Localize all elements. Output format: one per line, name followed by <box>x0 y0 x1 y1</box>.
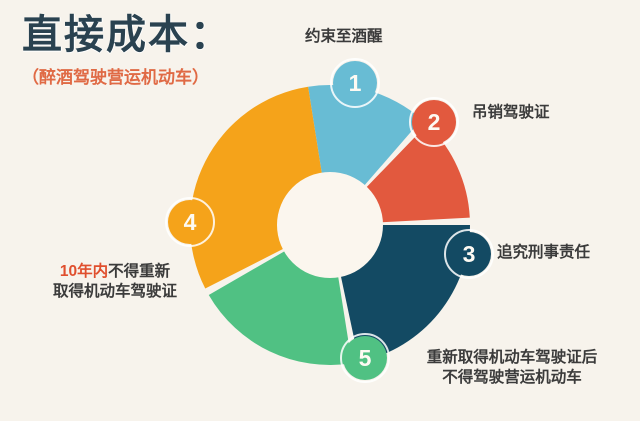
slice-label-4-rest: 不得重新 <box>108 263 170 280</box>
donut-hole <box>277 172 383 278</box>
slice-badge-4-number: 4 <box>184 211 197 234</box>
slice-badge-4[interactable]: 4 <box>168 200 212 244</box>
slice-label-4-line1: 10年内不得重新 <box>20 262 210 282</box>
slice-label-5-line1: 重新取得机动车驾驶证后 <box>394 348 630 368</box>
slice-badge-1[interactable]: 1 <box>333 61 377 105</box>
slice-badge-2[interactable]: 2 <box>412 100 456 144</box>
slice-label-2: 吊销驾驶证 <box>472 103 550 123</box>
page-title: 直接成本： <box>22 14 232 57</box>
slice-badge-5-number: 5 <box>359 347 372 370</box>
title-block: 直接成本： （醉酒驾驶营运机动车） <box>22 14 232 88</box>
slice-label-4: 10年内不得重新 取得机动车驾驶证 <box>20 262 210 303</box>
slice-badge-1-number: 1 <box>349 72 362 95</box>
slice-label-5-line2: 不得驾驶营运机动车 <box>394 368 630 388</box>
slice-badge-3[interactable]: 3 <box>447 232 491 276</box>
slice-label-5: 重新取得机动车驾驶证后 不得驾驶营运机动车 <box>394 348 630 389</box>
slice-badge-3-number: 3 <box>463 243 476 266</box>
slice-label-1: 约束至酒醒 <box>305 27 383 47</box>
slice-label-4-line2: 取得机动车驾驶证 <box>20 282 210 302</box>
slice-badge-5[interactable]: 5 <box>343 336 387 380</box>
infographic-canvas: 直接成本： （醉酒驾驶营运机动车） 1 2 3 4 5 约束至酒醒 吊销驾驶证 … <box>0 0 640 421</box>
slice-label-3: 追究刑事责任 <box>497 243 590 263</box>
slice-badge-2-number: 2 <box>428 111 441 134</box>
slice-label-4-highlight: 10年内 <box>60 263 108 280</box>
